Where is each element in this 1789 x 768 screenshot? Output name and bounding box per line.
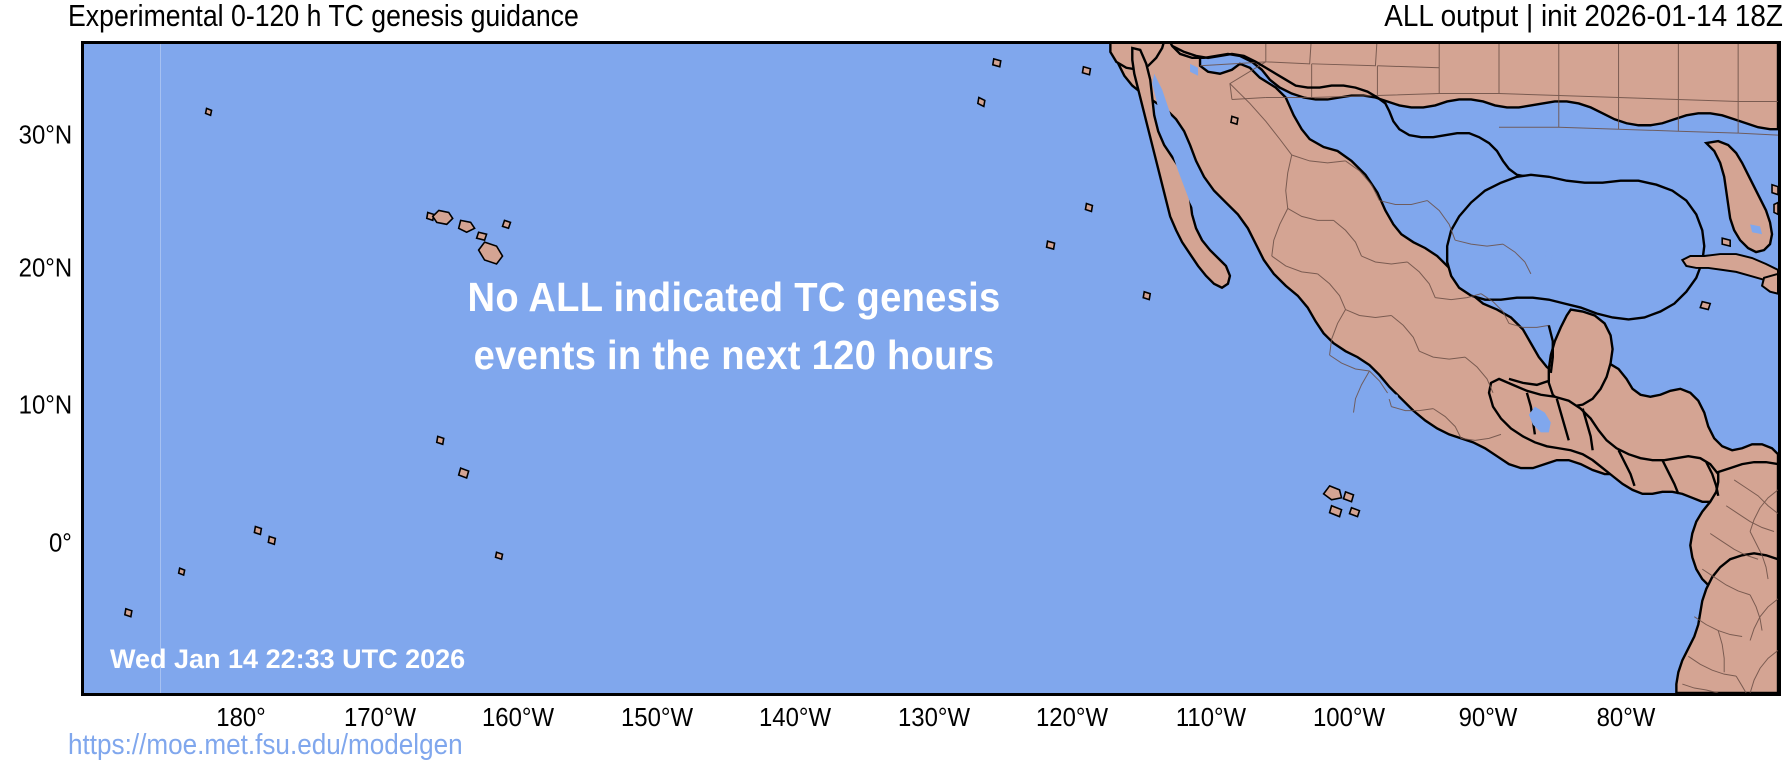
page-title: Experimental 0-120 h TC genesis guidance (68, 0, 579, 34)
y-tick-label: 0° (49, 528, 72, 559)
x-tick-label: 160°W (482, 702, 554, 733)
no-genesis-message-line1: No ALL indicated TC genesis (130, 268, 1339, 326)
x-tick-label: 90°W (1459, 702, 1518, 733)
x-tick-label: 120°W (1036, 702, 1108, 733)
map-axes[interactable]: .land { fill:#d4a493; stroke:#000000; st… (81, 41, 1781, 696)
y-tick-label: 20°N (19, 253, 72, 284)
y-tick-label: 30°N (19, 120, 72, 151)
genesis-guidance-figure: Experimental 0-120 h TC genesis guidance… (0, 0, 1789, 768)
x-tick-label: 80°W (1597, 702, 1656, 733)
timestamp-label: Wed Jan 14 22:33 UTC 2026 (110, 644, 465, 675)
x-tick-label: 140°W (759, 702, 831, 733)
y-tick-label: 10°N (19, 390, 72, 421)
x-tick-label: 100°W (1313, 702, 1385, 733)
figure-title-row: Experimental 0-120 h TC genesis guidance… (0, 0, 1789, 40)
x-tick-label: 150°W (621, 702, 693, 733)
source-url-link[interactable]: https://moe.met.fsu.edu/modelgen (68, 729, 463, 762)
x-tick-label: 110°W (1176, 702, 1246, 733)
x-tick-label: 130°W (898, 702, 970, 733)
no-genesis-message-line2: events in the next 120 hours (130, 326, 1339, 384)
model-init-label: ALL output | init 2026-01-14 18Z (1384, 0, 1783, 34)
no-genesis-message: No ALL indicated TC genesis events in th… (130, 268, 1339, 384)
